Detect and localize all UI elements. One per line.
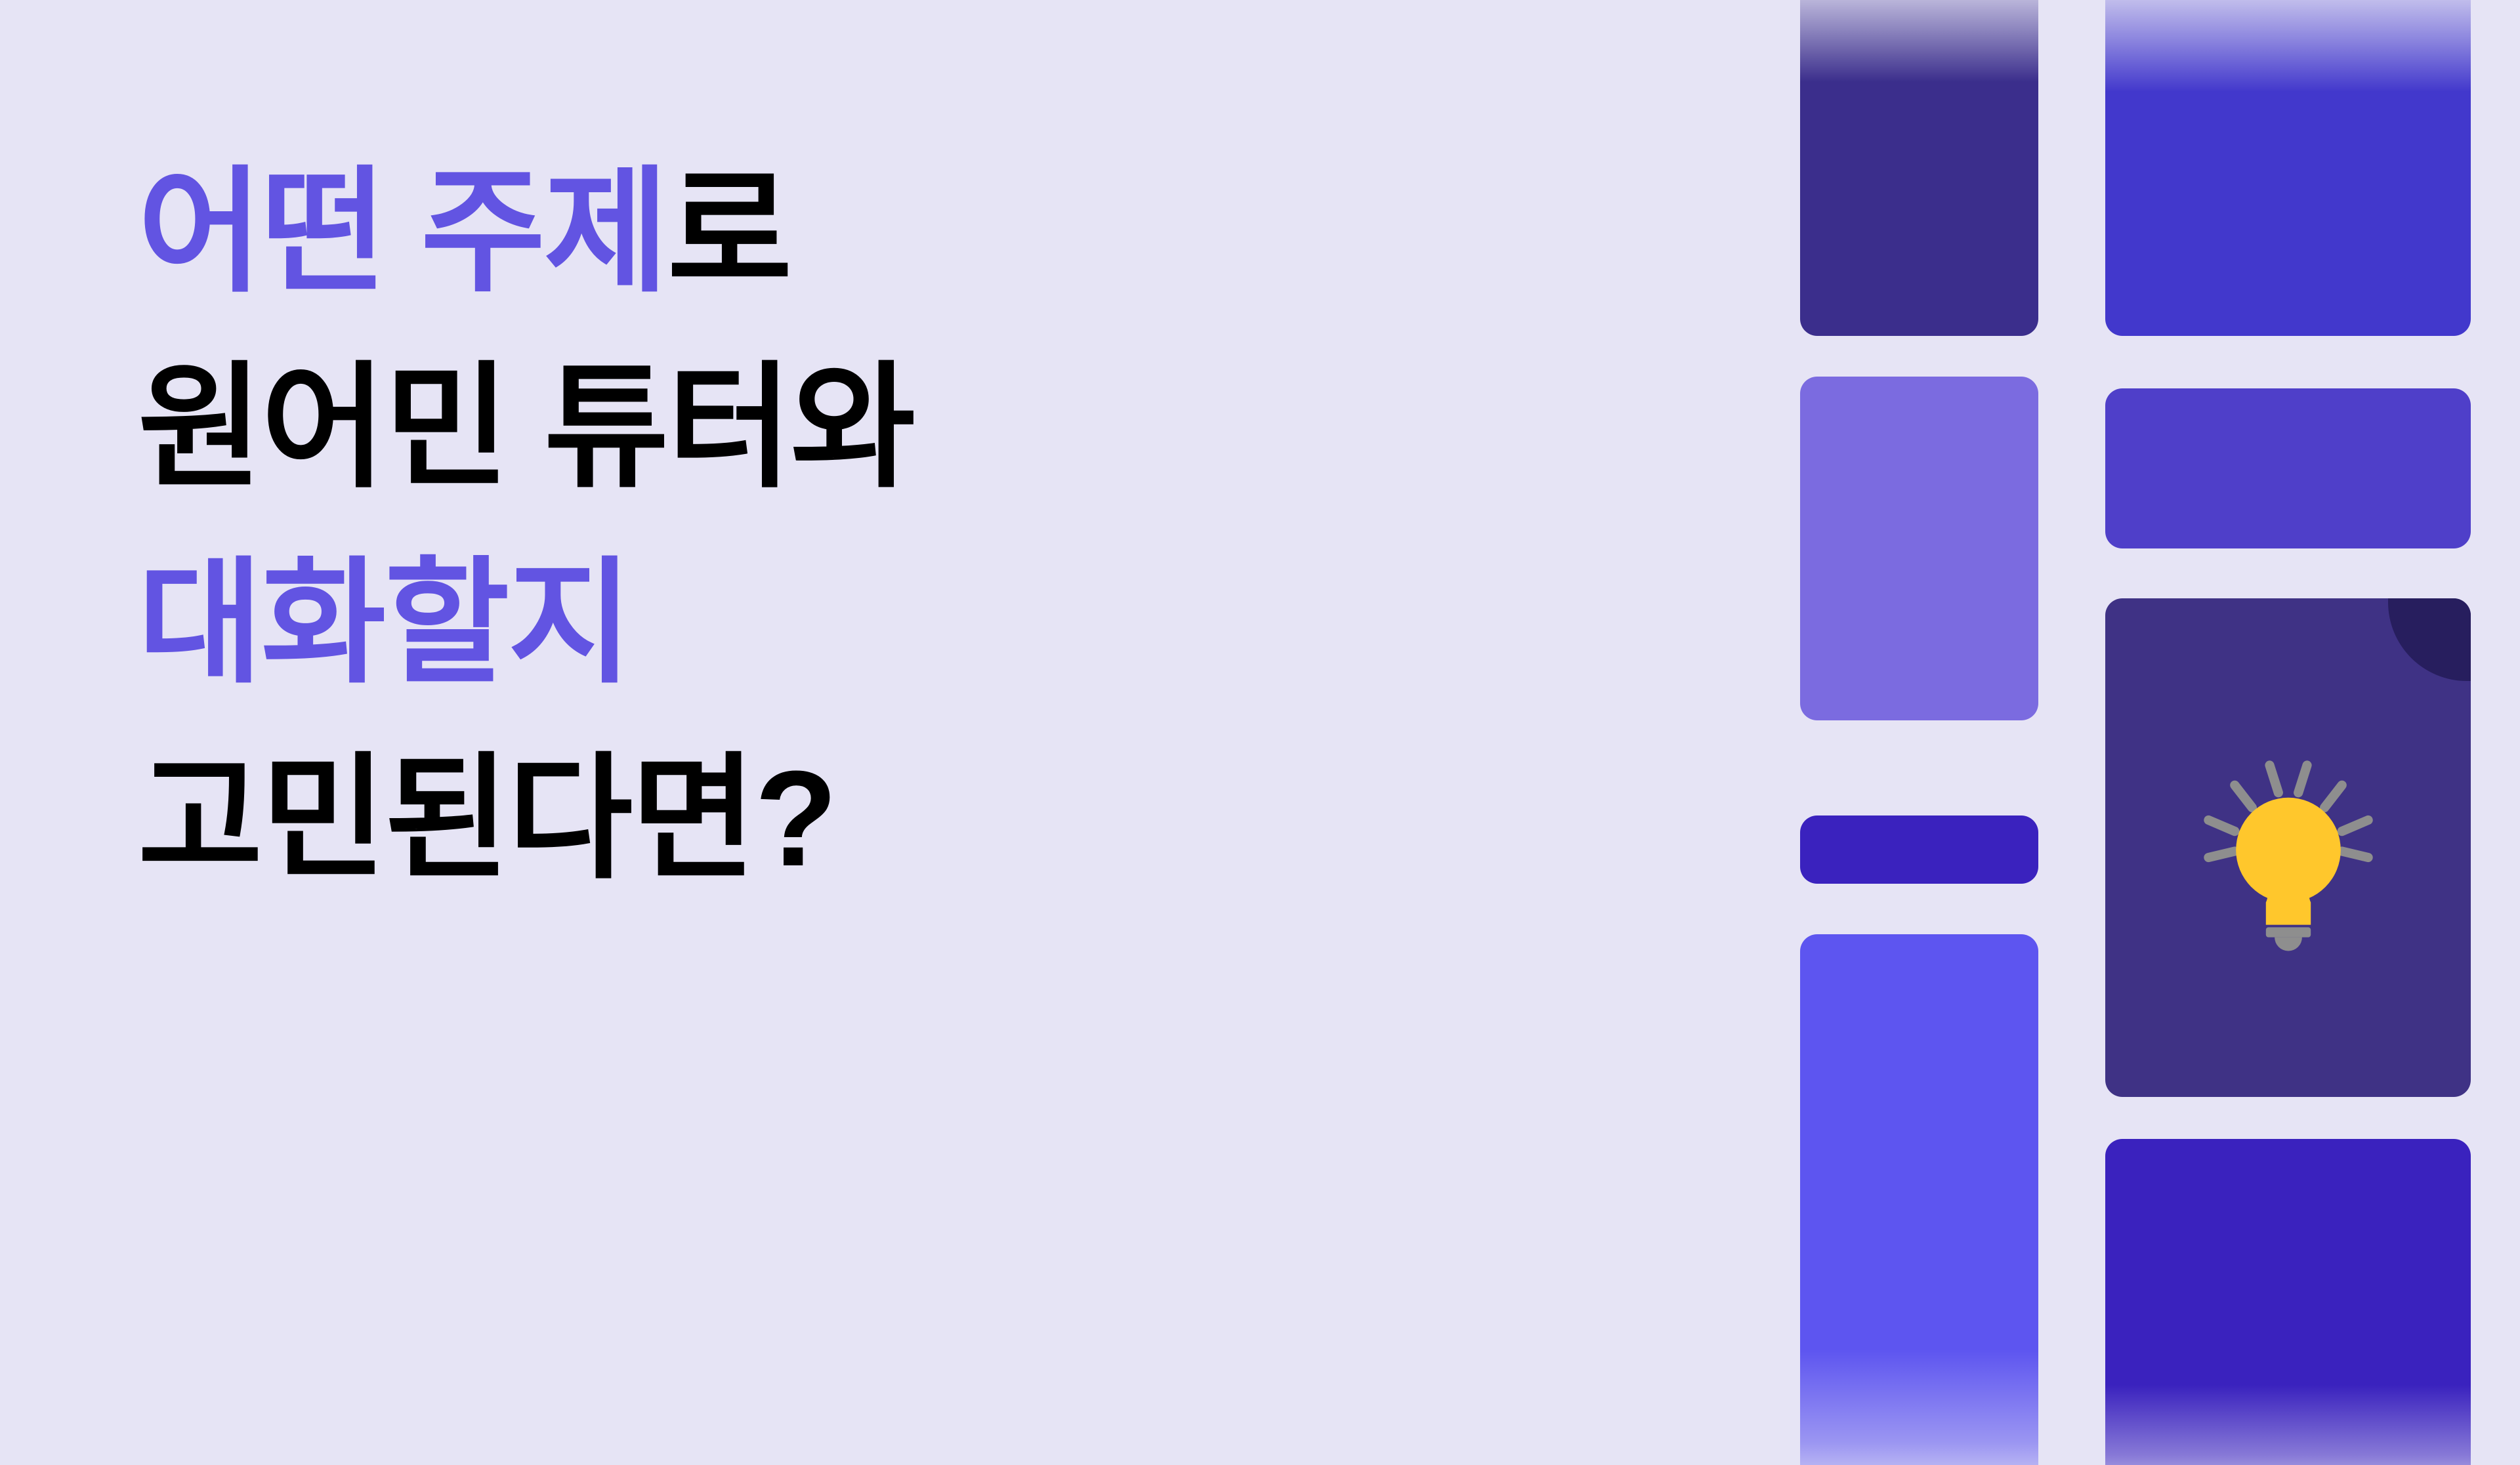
headline-line-3: 대화할지	[138, 526, 1385, 721]
tile-left-3	[1800, 815, 2038, 884]
tile-right-2	[2105, 388, 2471, 548]
folded-corner-icon	[2388, 598, 2471, 681]
headline-line-4-plain: 고민된다면?	[138, 743, 836, 894]
promo-banner: 어떤 주제로 원어민 튜터와 대화할지 고민된다면?	[0, 0, 2520, 1465]
tile-right-1	[2105, 0, 2471, 336]
tile-left-4	[1800, 934, 2038, 1465]
headline-line-1-accent: 어떤 주제	[138, 156, 667, 308]
tile-right-4	[2105, 1139, 2471, 1465]
headline-line-1: 어떤 주제로	[138, 134, 1385, 330]
tile-right-3-document-card	[2105, 598, 2471, 1097]
headline-line-4: 고민된다면?	[138, 721, 1385, 917]
tile-left-2	[1800, 377, 2038, 720]
tile-left-1	[1800, 0, 2038, 336]
decorative-tile-mosaic	[1800, 0, 2520, 1465]
headline-block: 어떤 주제로 원어민 튜터와 대화할지 고민된다면?	[138, 134, 1385, 917]
lightbulb-icon	[2164, 733, 2413, 982]
headline-line-2-plain: 원어민 튜터와	[138, 352, 914, 503]
headline-line-2: 원어민 튜터와	[138, 330, 1385, 526]
headline-line-3-accent: 대화할지	[138, 547, 631, 699]
headline-line-1-plain: 로	[667, 156, 791, 308]
